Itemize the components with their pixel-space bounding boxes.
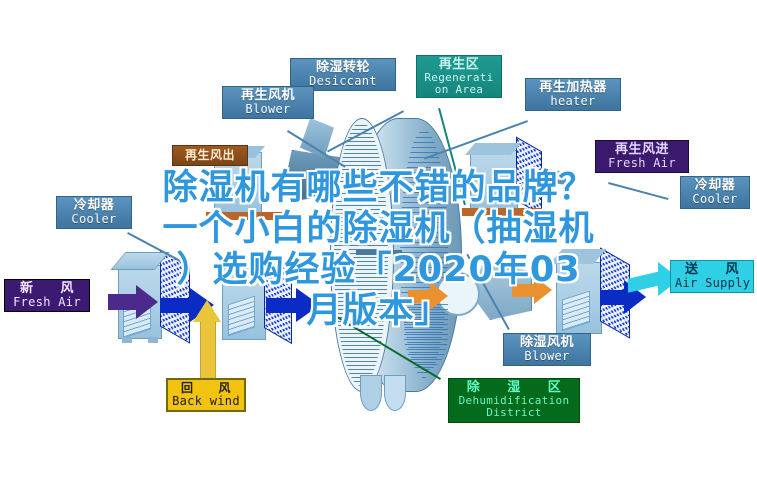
callout-dehumidification-district[interactable]: 除 湿 区 Dehumidification District [448,378,580,423]
callout-regeneration-area-cn: 再生区 [421,58,497,72]
callout-regeneration-air-out[interactable]: 再生风出 [172,145,248,166]
callout-regeneration-blower-en: Blower [227,103,309,116]
callout-regeneration-heater[interactable]: 再生加热器 heater [525,78,621,111]
callout-regeneration-air-in-cn: 再生风进 [600,143,684,157]
rotor-support-left [360,375,382,411]
foot-left [122,337,132,343]
callout-regeneration-area[interactable]: 再生区 Regenerati on Area [416,55,502,98]
callout-regeneration-blower-cn: 再生风机 [227,89,309,103]
callout-regeneration-blower[interactable]: 再生风机 Blower [222,86,314,119]
headline-line-3: ）选购经验「2020年03 [14,250,743,291]
foot-left-2 [148,337,158,343]
callout-regeneration-area-en: Regenerati on Area [421,72,497,95]
callout-dehumidification-blower-en: Blower [508,350,586,363]
headline-line-1: 除湿机有哪些不错的品牌？ [14,168,743,209]
callout-back-wind-en: Back wind [172,395,240,408]
callout-regeneration-heater-en: heater [530,95,616,108]
callout-desiccant-wheel-cn: 除湿转轮 [295,61,391,75]
callout-dehumidification-district-en: Dehumidification District [453,395,575,420]
callout-dehumidification-blower-cn: 除湿风机 [508,336,586,350]
diagram-canvas: 除湿转轮 Desiccant 再生风机 Blower 再生区 Regenerat… [0,0,757,488]
callout-regeneration-heater-cn: 再生加热器 [530,81,616,95]
headline-line-2: 一个小白的除湿机（抽湿机 [14,209,743,250]
callout-back-wind[interactable]: 回 风 Back wind [166,378,246,412]
headline-overlay: 除湿机有哪些不错的品牌？ 一个小白的除湿机（抽湿机 ）选购经验「2020年03 … [0,168,757,332]
callout-dehumidification-blower[interactable]: 除湿风机 Blower [503,333,591,366]
callout-dehumidification-district-cn: 除 湿 区 [453,381,575,395]
callout-regeneration-air-out-cn: 再生风出 [177,149,243,162]
rotor-support-right [384,375,406,411]
headline-line-4: 月版本」 [14,291,743,332]
callout-back-wind-cn: 回 风 [172,382,240,395]
